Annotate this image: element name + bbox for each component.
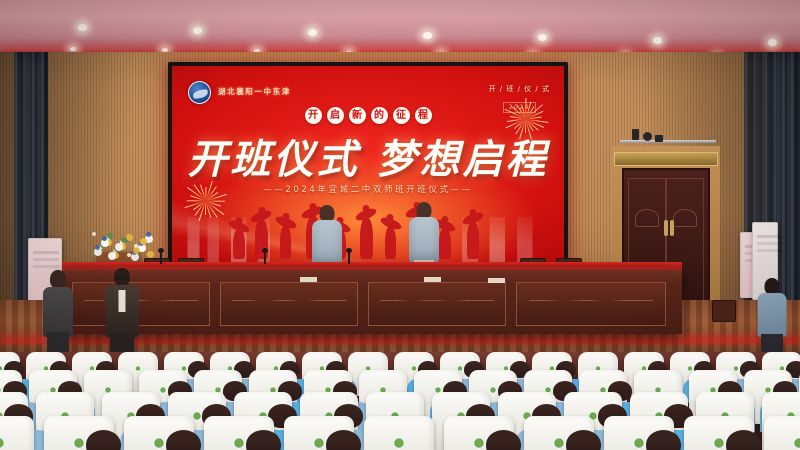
chair-logo-icon <box>473 437 485 449</box>
downlight-upper-7 <box>768 39 777 46</box>
kicker-badge-2: 启 <box>327 107 344 124</box>
banner-sub-title: ——2024年宜城二中双师班开班仪式—— <box>172 183 564 195</box>
nameplate-3 <box>488 278 505 283</box>
male-presenter <box>98 268 146 356</box>
female-presenter-suit <box>43 287 73 337</box>
female-presenter-lower <box>47 332 69 354</box>
downlight-upper-5 <box>538 34 547 41</box>
chair-logo-icon <box>313 437 325 449</box>
flower-26 <box>127 253 131 257</box>
kicker-badge-4: 的 <box>371 107 388 124</box>
chair-logo-icon <box>192 411 202 421</box>
kicker-badge-3: 新 <box>349 107 366 124</box>
audience-chair[interactable] <box>364 416 434 450</box>
flower-33 <box>102 236 107 241</box>
camera-rail <box>620 140 716 143</box>
banner-crowd-silhouettes <box>227 201 509 259</box>
student-jacket-right <box>409 217 439 263</box>
flower-1 <box>92 232 96 236</box>
flower-32 <box>147 251 154 258</box>
flower-27 <box>140 238 147 245</box>
crowd-silhouette-6 <box>360 217 373 259</box>
crowd-silhouette-3 <box>280 225 291 259</box>
downlight-upper-1 <box>78 24 87 31</box>
banner-kicker-badges: 开启新的征程 <box>172 103 564 124</box>
school-name-text: 湖北襄阳一中东津 <box>218 86 291 97</box>
flower-30 <box>121 237 127 243</box>
flower-29 <box>108 252 116 260</box>
downlight-upper-6 <box>653 37 662 44</box>
attendee-shirt <box>758 293 787 337</box>
flower-22 <box>133 247 140 254</box>
chair-logo-icon <box>135 365 142 372</box>
chair-logo-icon <box>553 437 565 449</box>
downlight-upper-2 <box>193 27 202 34</box>
crowd-silhouette-1 <box>233 229 245 259</box>
camera-head-icon <box>632 129 639 140</box>
table-panel-3 <box>368 282 506 326</box>
camera-motor-icon <box>655 135 663 142</box>
auditorium-photo: 湖北襄阳一中东津 开 / 班 / 仪 / 式 2024 开启新的征程 开班仪式 … <box>0 0 800 450</box>
flower-28 <box>95 245 100 250</box>
chair-logo-icon <box>633 437 645 449</box>
flower-23 <box>146 232 151 237</box>
flower-20 <box>107 233 113 239</box>
microphone-1 <box>160 252 162 264</box>
chair-logo-icon <box>233 437 245 449</box>
flower-17 <box>126 234 133 241</box>
nameplate-1 <box>300 277 317 282</box>
door-handle-left[interactable] <box>664 220 668 236</box>
microphone-3 <box>348 252 350 264</box>
table-panel-4 <box>516 282 666 326</box>
kicker-badge-1: 开 <box>305 107 322 124</box>
door-handle-right[interactable] <box>670 220 674 236</box>
chair-logo-icon <box>393 437 405 449</box>
chair-logo-icon <box>0 437 5 449</box>
table-panel-2 <box>220 282 358 326</box>
female-presenter <box>36 270 80 355</box>
led-screen-frame: 湖北襄阳一中东津 开 / 班 / 仪 / 式 2024 开启新的征程 开班仪式 … <box>168 62 568 267</box>
chair-logo-icon <box>73 437 85 449</box>
side-chair-right <box>712 300 736 322</box>
downlight-upper-3 <box>308 29 317 36</box>
crowd-silhouette-10 <box>467 221 479 259</box>
chair-logo-icon <box>713 437 725 449</box>
downlight-lower-1 <box>70 47 76 51</box>
head-table <box>62 266 682 334</box>
crowd-silhouette-2 <box>255 219 268 259</box>
microphone-2 <box>264 252 266 264</box>
led-banner: 湖北襄阳一中东津 开 / 班 / 仪 / 式 2024 开启新的征程 开班仪式 … <box>172 66 564 263</box>
flower-31 <box>134 244 138 248</box>
crowd-silhouette-7 <box>385 226 396 259</box>
kicker-badge-6: 程 <box>415 107 432 124</box>
chair-logo-icon <box>159 386 167 394</box>
chair-logo-icon <box>793 437 800 449</box>
audience-chair[interactable] <box>0 416 34 450</box>
camera-lens-icon <box>643 132 652 141</box>
corner-tag-text: 开 / 班 / 仪 / 式 <box>489 84 550 94</box>
attendee-trousers <box>761 334 783 354</box>
male-presenter-shirt <box>119 290 126 312</box>
door-medallion-right <box>673 209 697 227</box>
flower-34 <box>115 243 123 251</box>
downlight-upper-4 <box>423 32 432 39</box>
glasses-icon <box>116 277 129 280</box>
kicker-badge-5: 征 <box>393 107 410 124</box>
standing-attendee-right <box>752 278 792 354</box>
chair-logo-icon <box>489 386 497 394</box>
banner-main-title: 开班仪式 梦想启程 <box>172 127 564 185</box>
chair-logo-icon <box>153 437 165 449</box>
nameplate-2 <box>424 277 441 282</box>
audience-chair[interactable] <box>764 416 800 450</box>
door-medallion-left <box>635 209 659 227</box>
student-jacket-left <box>312 220 342 266</box>
door-header-plaque <box>614 152 718 166</box>
school-crest-icon <box>188 81 211 104</box>
flower-arrangement <box>92 230 154 260</box>
